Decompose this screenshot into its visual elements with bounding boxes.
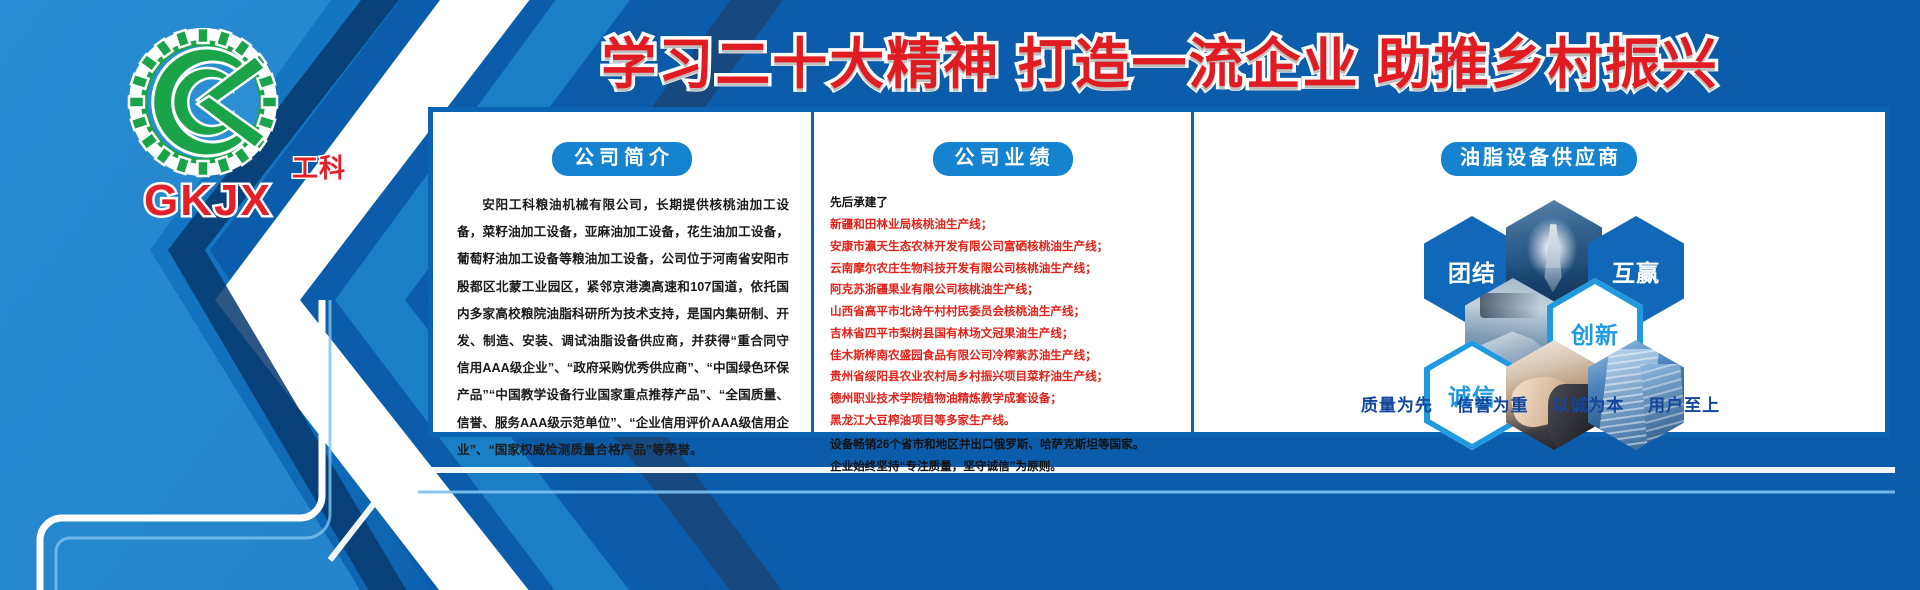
panel-intro-body: 安阳工科粮油机械有限公司，长期提供核桃油加工设备，菜籽油加工设备，亚麻油加工设备…: [457, 192, 789, 464]
performance-lead: 先后承建了: [830, 192, 1177, 214]
panel-intro-title: 公司简介: [552, 142, 692, 176]
hex-cluster: 团结 互赢 创新 诚信: [1194, 190, 1887, 405]
list-item: 云南摩尔农庄生物科技开发有限公司核桃油生产线；: [830, 258, 1177, 280]
slogan-part: 质量为先: [1361, 396, 1433, 415]
panel-company-performance: 公司业绩 先后承建了 新疆和田林业局核桃油生产线； 安康市瀛天生态农林开发有限公…: [811, 112, 1191, 432]
slogan-part: 信誉为重: [1457, 396, 1529, 415]
supplier-slogan: 质量为先 信誉为重 以诚为本 用户至上: [1194, 391, 1887, 416]
gear-e-logo-icon: [116, 28, 291, 188]
panel-performance-body: 先后承建了 新疆和田林业局核桃油生产线； 安康市瀛天生态农林开发有限公司富硒核桃…: [830, 192, 1177, 478]
list-item: 佳木斯桦南农盛园食品有限公司冷榨紫苏油生产线；: [830, 345, 1177, 367]
list-item: 新疆和田林业局核桃油生产线；: [830, 214, 1177, 236]
panel-supplier-title: 油脂设备供应商: [1441, 142, 1637, 176]
content-panels: 公司简介 安阳工科粮油机械有限公司，长期提供核桃油加工设备，菜籽油加工设备，亚麻…: [428, 107, 1890, 437]
hex-label: 互赢: [1612, 254, 1660, 288]
panel-performance-title: 公司业绩: [933, 142, 1073, 176]
hex-label: 团结: [1448, 254, 1496, 288]
performance-footer-1: 设备畅销26个省市和地区并出口俄罗斯、哈萨克斯坦等国家。: [830, 434, 1177, 456]
list-item: 黑龙江大豆榨油项目等多家生产线。: [830, 410, 1177, 432]
headline-banner: 学习二十大精神 打造一流企业 助推乡村振兴: [430, 20, 1890, 98]
list-item: 德州职业技术学院植物油精炼教学成套设备；: [830, 388, 1177, 410]
list-item: 山西省高平市北诗午村村民委员会核桃油生产线；: [830, 301, 1177, 323]
panel-company-intro: 公司简介 安阳工科粮油机械有限公司，长期提供核桃油加工设备，菜籽油加工设备，亚麻…: [433, 112, 811, 432]
hex-label: 创新: [1571, 316, 1619, 350]
list-item: 阿克苏浙疆果业有限公司核桃油生产线；: [830, 279, 1177, 301]
poster-canvas: 工科 GKJX 学习二十大精神 打造一流企业 助推乡村振兴 公司简介 安阳工科粮…: [0, 0, 1920, 590]
logo-cn-text: 工科: [292, 148, 346, 185]
list-item: 吉林省四平市梨树县国有林场文冠果油生产线；: [830, 323, 1177, 345]
headline-text: 学习二十大精神 打造一流企业 助推乡村振兴: [601, 19, 1719, 99]
performance-footer-2: 企业始终坚持“专注质量，坚守诚信”为原则。: [830, 456, 1177, 478]
panel-supplier: 油脂设备供应商 团结 互赢 创新: [1191, 112, 1884, 432]
list-item: 安康市瀛天生态农林开发有限公司富硒核桃油生产线；: [830, 236, 1177, 258]
performance-project-list: 新疆和田林业局核桃油生产线； 安康市瀛天生态农林开发有限公司富硒核桃油生产线； …: [830, 214, 1177, 432]
company-logo: 工科 GKJX: [96, 28, 356, 218]
list-item: 贵州省绥阳县农业农村局乡村振兴项目菜籽油生产线；: [830, 366, 1177, 388]
slogan-part: 以诚为本: [1552, 396, 1624, 415]
logo-en-text: GKJX: [144, 176, 272, 226]
slogan-part: 用户至上: [1648, 396, 1720, 415]
